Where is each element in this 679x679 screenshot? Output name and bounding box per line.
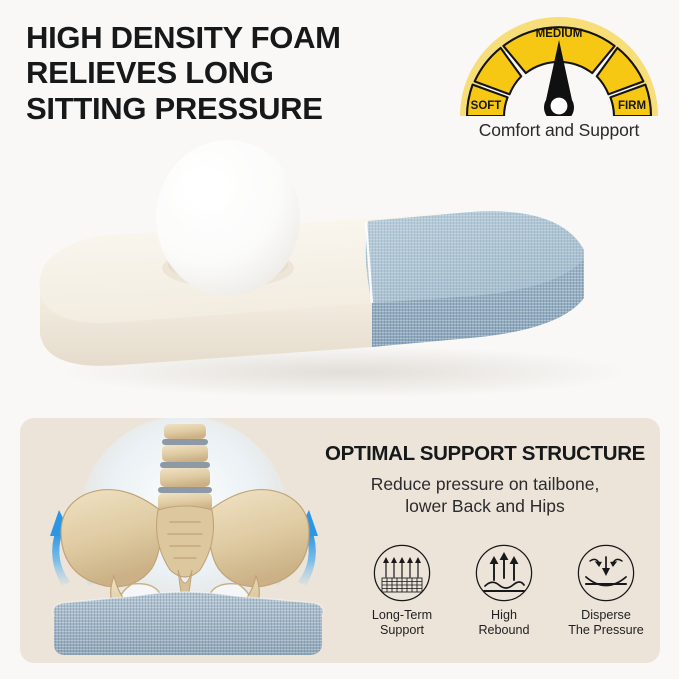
- pelvis-cushion-illustration: [28, 418, 348, 663]
- disperse-arrows-icon: [577, 544, 635, 602]
- feature-high-rebound: High Rebound: [456, 544, 552, 638]
- product-photo-svg: [0, 140, 679, 405]
- panel-title: OPTIMAL SUPPORT STRUCTURE: [320, 442, 650, 466]
- feature-disperse-pressure: Disperse The Pressure: [558, 544, 654, 638]
- infographic-page: HIGH DENSITY FOAM RELIEVES LONG SITTING …: [0, 0, 679, 679]
- pressure-test-egg: [156, 140, 300, 296]
- pelvis-cushion-svg: [28, 418, 348, 663]
- lumbar-spine: [158, 424, 212, 511]
- rebound-arrows-icon: [475, 544, 533, 602]
- gauge-needle-hub: [551, 98, 568, 115]
- panel-subtitle: Reduce pressure on tailbone, lower Back …: [320, 473, 650, 518]
- support-structure-panel: OPTIMAL SUPPORT STRUCTURE Reduce pressur…: [20, 418, 660, 663]
- seat-cushion: [53, 592, 323, 655]
- firmness-gauge: SOFT MEDIUM FIRM Comfort and Support: [448, 16, 670, 144]
- page-title: HIGH DENSITY FOAM RELIEVES LONG SITTING …: [26, 20, 456, 126]
- gauge-label-medium: MEDIUM: [536, 28, 583, 40]
- gauge-label-firm: FIRM: [618, 100, 646, 112]
- product-photo: [0, 140, 679, 405]
- feature-list: Long-Term Support: [354, 544, 654, 638]
- panel-text-block: OPTIMAL SUPPORT STRUCTURE Reduce pressur…: [320, 442, 650, 518]
- gauge-caption: Comfort and Support: [448, 120, 670, 141]
- feature-label: Disperse The Pressure: [558, 608, 654, 638]
- gauge-svg: SOFT MEDIUM FIRM: [454, 16, 664, 120]
- egg-highlight: [174, 166, 234, 218]
- gauge-label-soft: SOFT: [471, 100, 502, 112]
- grid-arrows-icon: [373, 544, 431, 602]
- feature-long-term-support: Long-Term Support: [354, 544, 450, 638]
- feature-label: High Rebound: [456, 608, 552, 638]
- feature-label: Long-Term Support: [354, 608, 450, 638]
